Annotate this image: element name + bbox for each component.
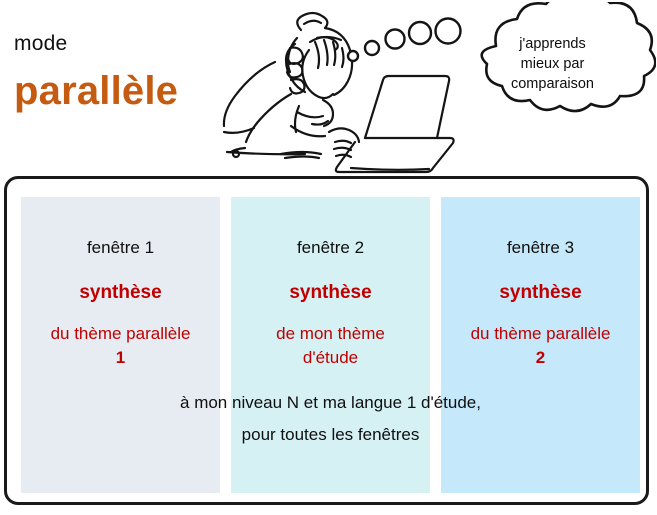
bubble-line-1: j'apprends — [470, 34, 635, 54]
synthese-label-2: synthèse — [235, 281, 426, 305]
desc-line-2-a: de mon thème — [276, 324, 385, 343]
header: mode parallèle — [0, 0, 657, 172]
synthese-label-1: synthèse — [25, 281, 216, 305]
mode-label: mode — [14, 32, 67, 56]
window-columns: fenêtre 1 synthèse du thème parallèle 1 … — [21, 197, 640, 493]
window-column-3[interactable]: fenêtre 3 synthèse du thème parallèle 2 — [441, 197, 640, 493]
mode-title: parallèle — [14, 69, 178, 114]
window-label-2: fenêtre 2 — [235, 237, 426, 259]
bubble-line-2: mieux par — [470, 54, 635, 74]
parallel-mode-panel: fenêtre 1 synthèse du thème parallèle 1 … — [4, 176, 649, 505]
desc-line-1-b: 1 — [25, 346, 216, 370]
desc-line-1-a: du thème parallèle — [51, 324, 191, 343]
desc-line-2-b: d'étude — [235, 346, 426, 370]
synthese-label-3: synthèse — [445, 281, 636, 305]
window-column-1[interactable]: fenêtre 1 synthèse du thème parallèle 1 — [21, 197, 220, 493]
window-column-2[interactable]: fenêtre 2 synthèse de mon thème d'étude — [231, 197, 430, 493]
window-label-3: fenêtre 3 — [445, 237, 636, 259]
bubble-line-3: comparaison — [470, 74, 635, 94]
window-label-1: fenêtre 1 — [25, 237, 216, 259]
desc-line-3-a: du thème parallèle — [471, 324, 611, 343]
desc-line-3-b: 2 — [445, 346, 636, 370]
thought-bubble-text: j'apprends mieux par comparaison — [470, 34, 635, 94]
